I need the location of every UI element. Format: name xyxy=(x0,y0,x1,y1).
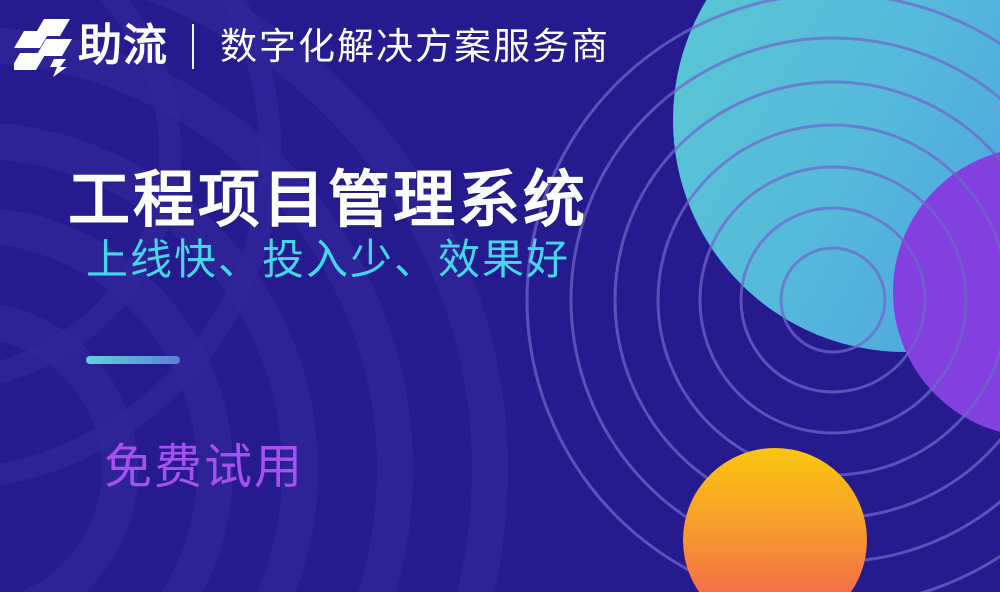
page-title: 工程项目管理系统 xyxy=(68,166,588,235)
hero-subtitle: 上线快、投入少、效果好 xyxy=(86,236,570,283)
promo-banner: 助流 数字化解决方案服务商 工程项目管理系统 上线快、投入少、效果好 免费试用 xyxy=(0,0,1000,592)
free-trial-button[interactable]: 免费试用 xyxy=(104,440,304,495)
hero-section: 工程项目管理系统 上线快、投入少、效果好 免费试用 xyxy=(0,0,1000,592)
hero-divider xyxy=(86,356,180,364)
